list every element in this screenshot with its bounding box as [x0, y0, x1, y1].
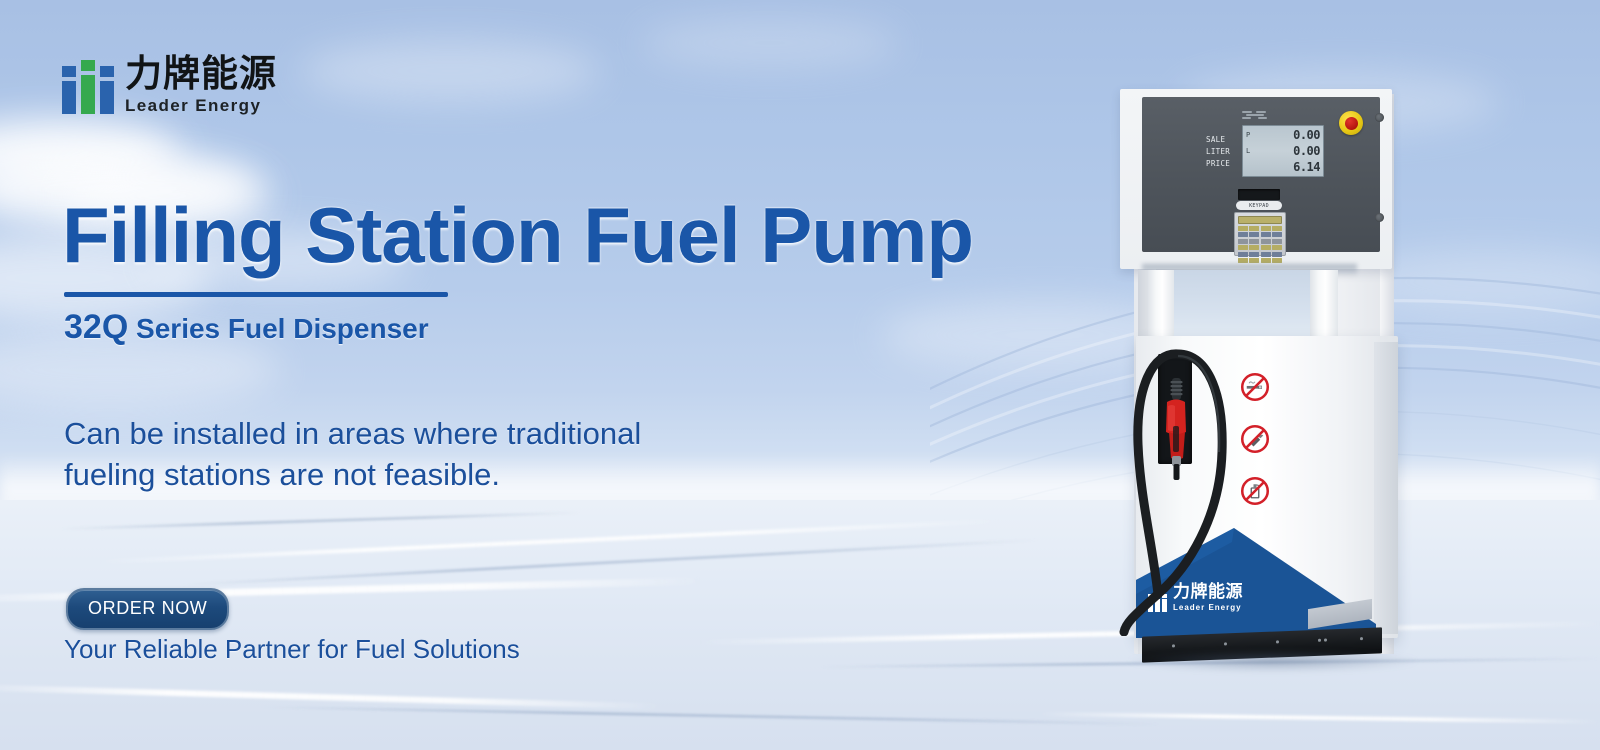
dispenser-control-face: SALE LITER PRICE P 0.00 L 0.00 — [1142, 97, 1380, 252]
lcd-value-liter: 0.00 — [1293, 144, 1320, 158]
base-bolt-icon — [1276, 640, 1279, 643]
three-bar-logo-mark — [62, 62, 114, 114]
keypad-key[interactable] — [1249, 245, 1259, 250]
base-bolt-icon — [1360, 637, 1363, 640]
product-description: Can be installed in areas where traditio… — [64, 414, 724, 496]
sensor-port-icon — [1242, 109, 1268, 118]
keypad-key[interactable] — [1249, 258, 1259, 263]
lcd-value-price: 6.14 — [1293, 160, 1320, 174]
numeric-keypad[interactable] — [1234, 212, 1286, 256]
lcd-prefix-l: L — [1246, 147, 1250, 155]
base-bolt-icon — [1172, 644, 1175, 647]
base-bolt-icon — [1318, 639, 1321, 642]
brand-logo[interactable]: 力牌能源 Leader Energy — [62, 55, 277, 114]
keypad-key[interactable] — [1261, 245, 1271, 250]
keypad-key[interactable] — [1272, 226, 1282, 231]
keypad-key[interactable] — [1261, 232, 1271, 237]
lcd-row-price: 6.14 — [1246, 160, 1320, 174]
dispenser-pedestal — [1148, 270, 1174, 342]
keypad-key[interactable] — [1238, 232, 1248, 237]
panel-brand-name-en: Leader Energy — [1173, 604, 1243, 612]
lcd-screen: P 0.00 L 0.00 6.14 — [1242, 125, 1324, 177]
keypad-key[interactable] — [1272, 258, 1282, 263]
panel-brand-logo: 力牌能源 Leader Energy — [1148, 584, 1243, 612]
fuel-dispenser-product-image: SALE LITER PRICE P 0.00 L 0.00 — [1092, 84, 1412, 664]
keypad-key[interactable] — [1238, 239, 1248, 244]
display-label-liter: LITER — [1206, 147, 1239, 156]
keypad-key[interactable] — [1272, 252, 1282, 257]
keypad-key[interactable] — [1249, 232, 1259, 237]
no-open-flame-sign — [1240, 424, 1270, 454]
dispenser-head-unit: SALE LITER PRICE P 0.00 L 0.00 — [1120, 89, 1392, 269]
lcd-row-liter: L 0.00 — [1246, 144, 1320, 158]
lcd-prefix-p: P — [1246, 131, 1250, 139]
base-bolt-icon — [1224, 642, 1227, 645]
keypad-key[interactable] — [1261, 252, 1271, 257]
lcd-value-sale: 0.00 — [1293, 128, 1320, 142]
display-label-sale: SALE — [1206, 135, 1239, 144]
keypad-key[interactable] — [1238, 245, 1248, 250]
panel-brand-name-cn: 力牌能源 — [1173, 584, 1243, 601]
title-divider — [64, 292, 448, 297]
keypad-key[interactable] — [1261, 258, 1271, 263]
page-title: Filling Station Fuel Pump — [62, 196, 973, 274]
fuel-nozzle — [1158, 376, 1194, 481]
keypad-key[interactable] — [1261, 239, 1271, 244]
keypad-mini-screen — [1238, 216, 1282, 224]
keypad-grid[interactable] — [1238, 226, 1282, 263]
keypad-key[interactable] — [1249, 226, 1259, 231]
banner-stage: 力牌能源 Leader Energy Filling Station Fuel … — [0, 0, 1600, 750]
product-model: 32Q — [64, 308, 128, 346]
keypad-nameplate: KEYPAD — [1236, 201, 1282, 210]
order-now-button[interactable]: ORDER NOW — [66, 588, 229, 630]
emergency-stop-button[interactable] — [1339, 111, 1363, 135]
dispenser-display: SALE LITER PRICE P 0.00 L 0.00 — [1206, 125, 1324, 177]
keypad-key[interactable] — [1238, 252, 1248, 257]
dispenser-pedestal — [1310, 270, 1338, 342]
panel-screw-icon — [1375, 113, 1384, 122]
keypad-key[interactable] — [1261, 226, 1271, 231]
panel-screw-icon — [1375, 213, 1384, 222]
display-labels: SALE LITER PRICE — [1206, 125, 1242, 177]
product-series-label: Series Fuel Dispenser — [128, 313, 428, 344]
three-bar-logo-mark — [1148, 590, 1167, 612]
brand-name-cn: 力牌能源 — [125, 55, 277, 92]
estop-center-icon — [1345, 117, 1358, 130]
dispenser-body-side — [1374, 342, 1398, 634]
base-bolt-icon — [1324, 639, 1327, 642]
brand-name-en: Leader Energy — [125, 97, 277, 114]
brand-tagline: Your Reliable Partner for Fuel Solutions — [64, 634, 520, 665]
display-label-price: PRICE — [1206, 159, 1239, 168]
no-fuel-container-sign — [1240, 476, 1270, 506]
keypad-key[interactable] — [1238, 258, 1248, 263]
cloud-decoration — [640, 18, 900, 68]
keypad-key[interactable] — [1249, 239, 1259, 244]
no-smoking-sign — [1240, 372, 1270, 402]
dispenser-pedestal-gap — [1172, 270, 1312, 340]
keypad-key[interactable] — [1272, 232, 1282, 237]
warning-decal-group — [1240, 372, 1270, 506]
keypad-key[interactable] — [1272, 245, 1282, 250]
lcd-row-sale: P 0.00 — [1246, 128, 1320, 142]
keypad-key[interactable] — [1249, 252, 1259, 257]
cloud-decoration — [300, 40, 600, 102]
product-subtitle: 32Q Series Fuel Dispenser — [64, 308, 429, 347]
keypad-key[interactable] — [1272, 239, 1282, 244]
keypad-nameplate-text: KEYPAD — [1249, 203, 1269, 209]
card-reader-slot[interactable] — [1238, 189, 1280, 200]
dispenser-ground-shadow — [1128, 650, 1418, 672]
keypad-key[interactable] — [1238, 226, 1248, 231]
